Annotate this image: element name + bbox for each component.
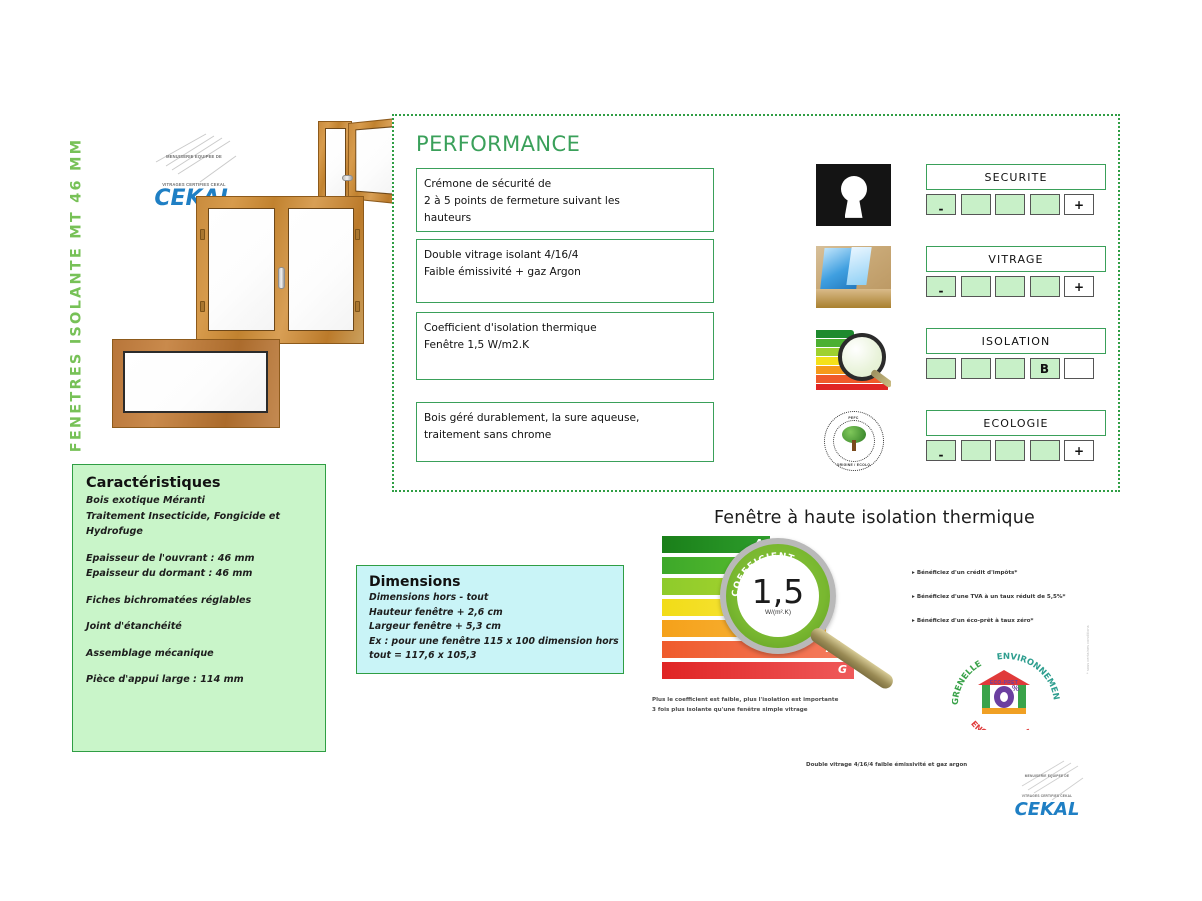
dimensions-line: Ex : pour une fenêtre 115 x 100 dimensio…: [369, 635, 615, 650]
benefit-bullet: Bénéficiez d'un crédit d'impôts*: [912, 570, 1092, 576]
rating-cell[interactable]: [1030, 440, 1060, 461]
characteristics-line: Epaisseur de l'ouvrant : 46 mm: [86, 551, 315, 567]
marketing-title: Fenêtre à haute isolation thermique: [714, 508, 1035, 528]
characteristics-line: Epaisseur du dormant : 46 mm: [86, 566, 315, 582]
eco-tree-stamp-icon: PEFC ORIGINE / ECOLO: [816, 410, 891, 472]
characteristics-line: Assemblage mécanique: [86, 646, 315, 662]
rating-scale-security: - +: [926, 194, 1094, 215]
cekal-logo-top: MENUISERIE EQUIPEE DE VITRAGES CERTIFIES…: [148, 132, 240, 188]
rating-scale-insulation: B: [926, 358, 1094, 379]
cekal-caption-line2: VITRAGES CERTIFIES CEKAL: [148, 160, 240, 188]
window-photo-fixed-transom: [112, 339, 280, 428]
vertical-product-title: FENETRES ISOLANTE MT 46 MM: [64, 130, 88, 460]
dimensions-panel: Dimensions Dimensions hors - tout Hauteu…: [356, 565, 624, 674]
energy-label-magnifier-icon: [816, 328, 891, 390]
keyhole-icon: [816, 164, 891, 226]
dimensions-line: tout = 117,6 x 105,3: [369, 649, 615, 664]
rating-cell[interactable]: [1030, 276, 1060, 297]
rating-cell[interactable]: +: [1064, 440, 1094, 461]
rating-cell[interactable]: [1064, 358, 1094, 379]
rating-cell[interactable]: +: [1064, 276, 1094, 297]
percent-label: %: [1012, 684, 1019, 693]
rating-cell[interactable]: [926, 358, 956, 379]
coefficient-note: Plus le coefficient est faible, plus l'i…: [652, 696, 892, 716]
coefficient-value: 1,5: [752, 576, 804, 607]
rating-label-ecology: ECOLOGIE: [926, 410, 1106, 436]
performance-box-ecology: Bois géré durablement, la sure aqueuse, …: [416, 402, 714, 462]
glazing-footnote: Double vitrage 4/16/4 faible émissivité …: [806, 762, 967, 768]
dimensions-line: Largeur fenêtre + 5,3 cm: [369, 620, 615, 635]
dimensions-line: Dimensions hors - tout: [369, 591, 615, 606]
characteristics-line: Pièce d'appui large : 114 mm: [86, 672, 315, 688]
rating-cell[interactable]: [961, 440, 991, 461]
window-photo-double-casement: [196, 196, 364, 344]
cekal-wordmark: CEKAL: [1008, 799, 1086, 820]
rating-scale-glazing: - +: [926, 276, 1094, 297]
rating-scale-ecology: - +: [926, 440, 1094, 461]
characteristics-line: Hydrofuge: [86, 524, 315, 540]
rating-cell[interactable]: -: [926, 440, 956, 461]
performance-box-security: Crémone de sécurité de 2 à 5 points de f…: [416, 168, 714, 232]
rating-cell[interactable]: [961, 276, 991, 297]
rating-cell[interactable]: +: [1064, 194, 1094, 215]
rating-cell[interactable]: -: [926, 194, 956, 215]
conditions-footnote: * sous certaines conditions: [1086, 596, 1096, 676]
grenelle-environnement-logo: GRENELLE ENVIRONNEMENT ENGAGEMENTS ECO-P…: [952, 652, 1060, 730]
rating-cell[interactable]: [1030, 194, 1060, 215]
benefit-bullets: Bénéficiez d'un crédit d'impôts* Bénéfic…: [912, 570, 1092, 642]
characteristics-title: Caractéristiques: [86, 475, 315, 491]
characteristics-line: Traitement Insecticide, Fongicide et: [86, 509, 315, 525]
cekal-caption-line1: MENUISERIE EQUIPEE DE: [148, 132, 240, 160]
performance-box-glazing: Double vitrage isolant 4/16/4 Faible émi…: [416, 239, 714, 303]
energy-class-label: G: [838, 663, 847, 676]
dimensions-title: Dimensions: [369, 574, 615, 590]
zero-ring: [994, 686, 1014, 708]
performance-panel: PERFORMANCE Crémone de sécurité de 2 à 5…: [392, 114, 1120, 492]
performance-title: PERFORMANCE: [416, 132, 580, 156]
benefit-bullet: Bénéficiez d'un éco-prêt à taux zéro*: [912, 618, 1092, 624]
vertical-product-title-text: FENETRES ISOLANTE MT 46 MM: [68, 138, 84, 453]
rating-cell[interactable]: [995, 358, 1025, 379]
characteristics-panel: Caractéristiques Bois exotique Méranti T…: [72, 464, 326, 752]
characteristics-line: Fiches bichromatées réglables: [86, 593, 315, 609]
datasheet-page: FENETRES ISOLANTE MT 46 MM MENUISERIE EQ…: [0, 0, 1202, 901]
dimensions-line: Hauteur fenêtre + 2,6 cm: [369, 606, 615, 621]
benefit-bullet: Bénéficiez d'une TVA à un taux réduit de…: [912, 594, 1092, 600]
rating-cell[interactable]: [961, 358, 991, 379]
rating-cell[interactable]: [995, 276, 1025, 297]
coefficient-unit: W/(m².K): [765, 609, 791, 616]
cekal-logo-bottom: MENUISERIE EQUIPEE DE VITRAGES CERTIFIES…: [1008, 758, 1086, 804]
rating-cell[interactable]: -: [926, 276, 956, 297]
rating-label-security: SECURITE: [926, 164, 1106, 190]
performance-box-insulation: Coefficient d'isolation thermique Fenêtr…: [416, 312, 714, 380]
rating-label-insulation: ISOLATION: [926, 328, 1106, 354]
cekal-caption-line1: MENUISERIE EQUIPEE DE: [1008, 758, 1086, 778]
window-photo-open-sash: [318, 121, 402, 205]
svg-text:ENGAGEMENTS: ENGAGEMENTS: [969, 719, 1033, 730]
window-glazing-icon: [816, 246, 891, 308]
characteristics-line: Joint d'étanchéité: [86, 619, 315, 635]
rating-cell[interactable]: [961, 194, 991, 215]
rating-label-glazing: VITRAGE: [926, 246, 1106, 272]
rating-cell[interactable]: [995, 440, 1025, 461]
rating-cell-selected[interactable]: B: [1030, 358, 1060, 379]
characteristics-line: Bois exotique Méranti: [86, 493, 315, 509]
cekal-caption-line2: VITRAGES CERTIFIES CEKAL: [1008, 778, 1086, 798]
rating-cell[interactable]: [995, 194, 1025, 215]
